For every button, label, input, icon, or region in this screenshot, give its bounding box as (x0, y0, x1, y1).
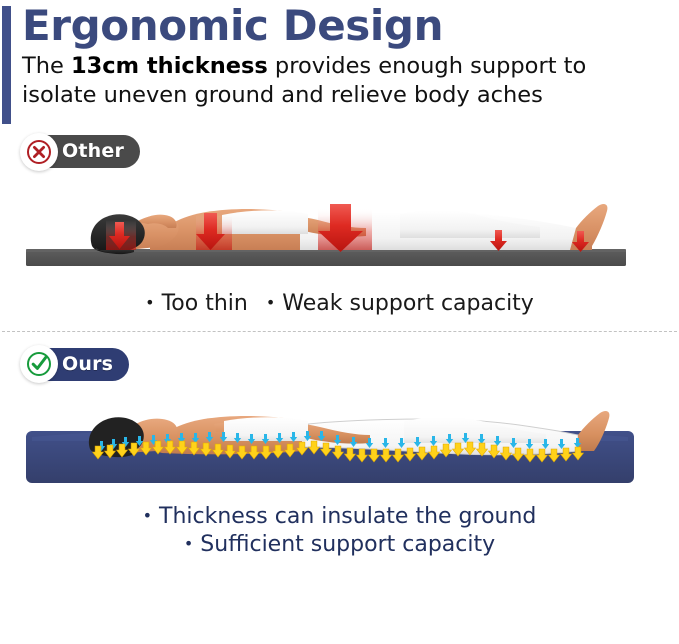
illustration-ours (0, 381, 679, 493)
subtitle-highlight: 13cm thickness (71, 53, 268, 79)
badge-row-ours: Ours (0, 332, 679, 381)
caption-other-item-1: Weak support capacity (282, 291, 534, 316)
status-badge-other: Other (22, 135, 140, 168)
bullet-icon: • (143, 506, 152, 525)
section-ours: Ours (0, 332, 679, 560)
bullet-icon: • (184, 534, 193, 553)
page-title: Ergonomic Design (22, 4, 665, 48)
circle-check-icon (20, 345, 58, 383)
header-accent-bar (2, 6, 11, 124)
bullet-icon: • (266, 293, 275, 312)
badge-row-other: Other (0, 119, 679, 168)
illustration-other (0, 168, 679, 280)
caption-other-item-0: Too thin (162, 291, 248, 316)
section-other: Other (0, 119, 679, 332)
caption-ours-item-0: Thickness can insulate the ground (159, 504, 536, 529)
caption-ours: • Thickness can insulate the ground • Su… (0, 493, 679, 560)
bullet-icon: • (145, 293, 154, 312)
caption-ours-item-1: Sufficient support capacity (200, 532, 495, 557)
circle-x-icon (20, 133, 58, 171)
status-badge-other-label: Other (56, 142, 124, 161)
status-badge-ours-label: Ours (56, 355, 113, 374)
status-badge-ours: Ours (22, 348, 129, 381)
page-subtitle: The 13cm thickness provides enough suppo… (22, 52, 665, 109)
subtitle-pre: The (22, 53, 71, 79)
header: Ergonomic Design The 13cm thickness prov… (0, 0, 679, 119)
caption-other: • Too thin• Weak support capacity (0, 280, 679, 319)
